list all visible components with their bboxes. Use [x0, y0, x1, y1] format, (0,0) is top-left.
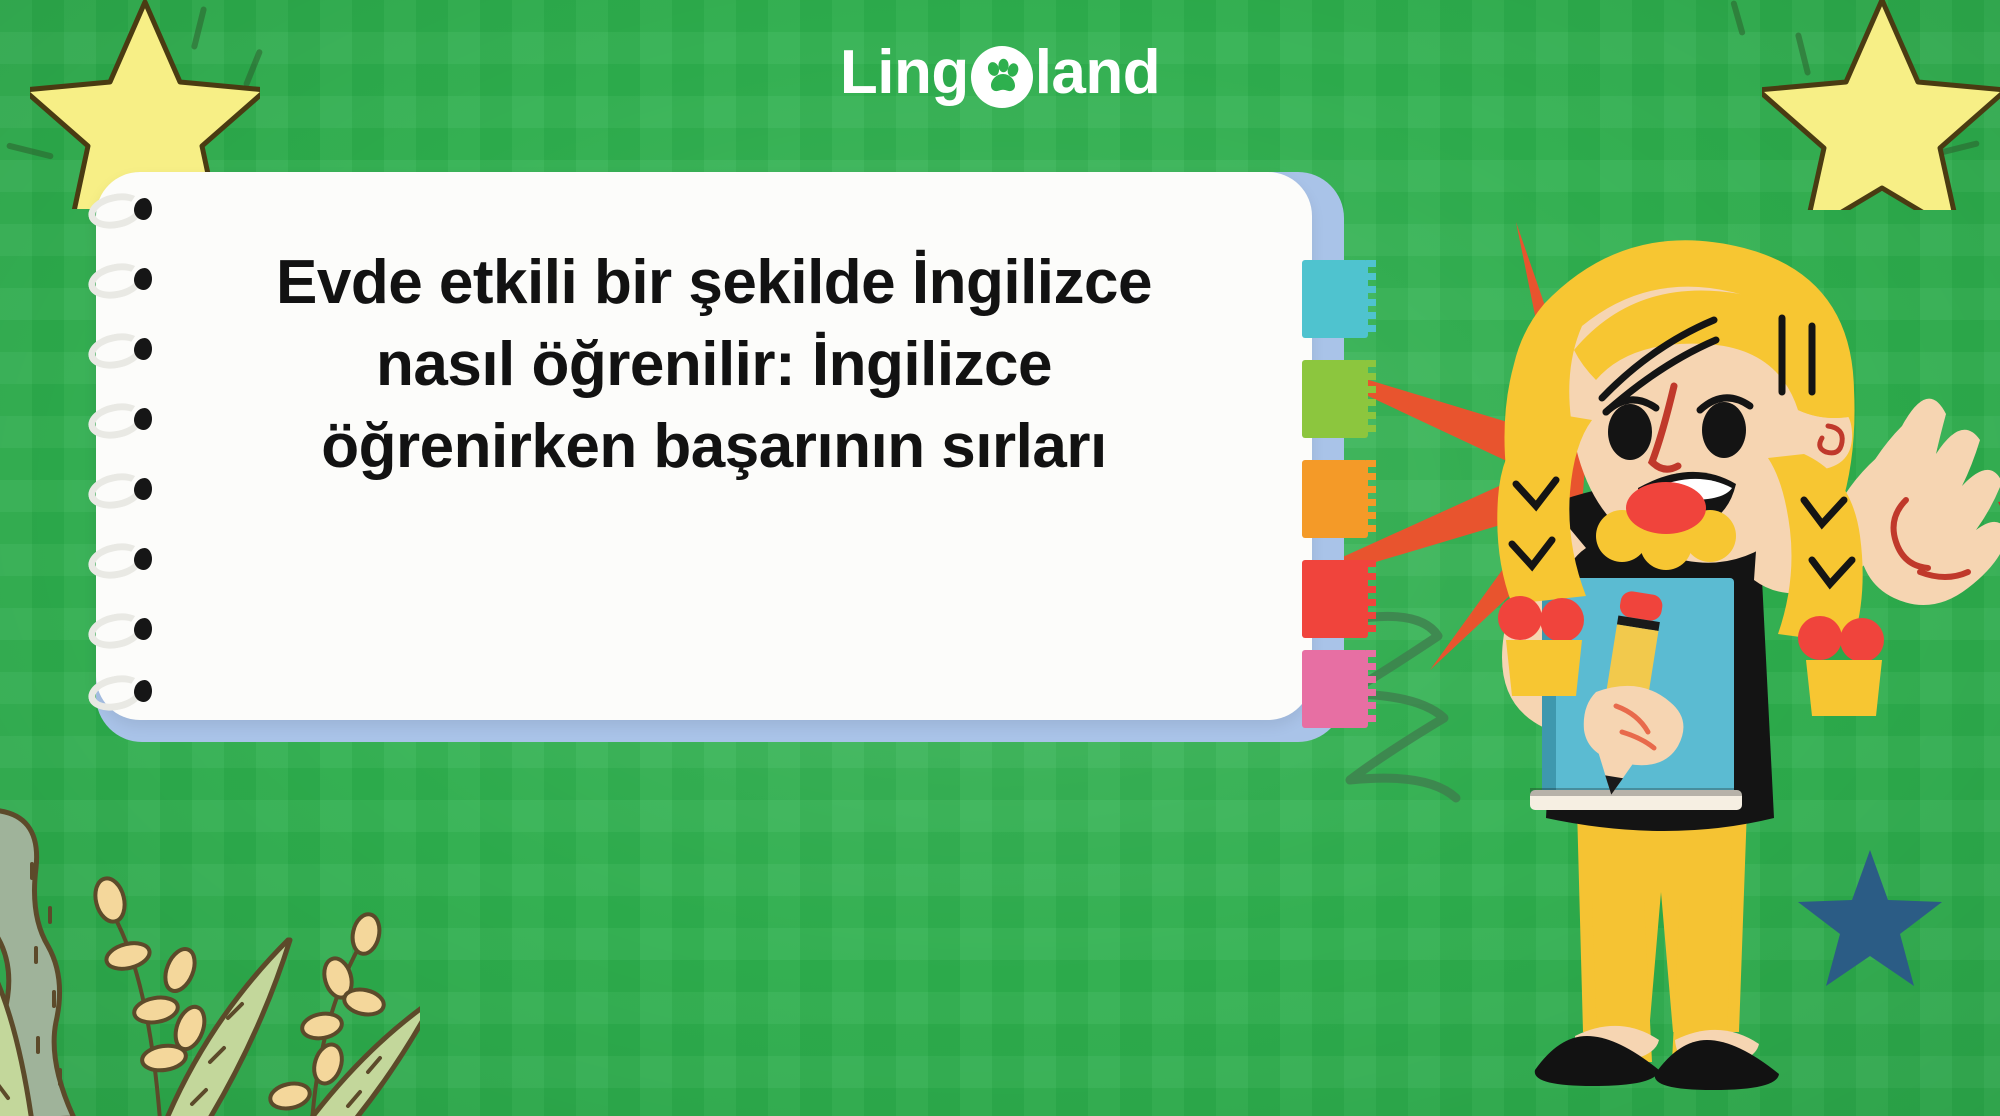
tab-green[interactable]	[1302, 360, 1368, 438]
brand-logo[interactable]: Ling land	[0, 42, 2000, 104]
headline-line-3: öğrenirken başarının sırları	[154, 406, 1274, 488]
logo-text-left: Ling	[840, 42, 969, 104]
character-shoes	[1535, 1026, 1779, 1090]
waving-student-illustration	[1330, 200, 2000, 1116]
spiral-binding	[88, 194, 158, 714]
card-page: Evde etkili bir şekilde İngilizce nasıl …	[96, 172, 1312, 720]
card-tabs	[1302, 172, 1392, 742]
headline-line-1: Evde etkili bir şekilde İngilizce	[154, 242, 1274, 324]
tab-red[interactable]	[1302, 560, 1368, 638]
waving-hand-icon	[1858, 399, 2000, 605]
headline-line-2: nasıl öğrenilir: İngilizce	[154, 324, 1274, 406]
tab-cyan[interactable]	[1302, 260, 1368, 338]
tab-pink[interactable]	[1302, 650, 1368, 728]
page-title: Evde etkili bir şekilde İngilizce nasıl …	[154, 242, 1274, 487]
paw-icon	[971, 46, 1033, 108]
star-decoration-top-right	[1762, 0, 2000, 210]
logo-text-right: land	[1035, 42, 1160, 104]
blue-star-decoration	[1798, 850, 1942, 986]
headline-note-card: Evde etkili bir şekilde İngilizce nasıl …	[96, 172, 1344, 742]
character-legs	[1577, 806, 1747, 1062]
foliage-decoration	[0, 752, 420, 1116]
poster-canvas: Ling land Evde etkili bir şekilde İngili…	[0, 0, 2000, 1116]
tab-orange[interactable]	[1302, 460, 1368, 538]
doodle-line	[1730, 0, 1746, 36]
